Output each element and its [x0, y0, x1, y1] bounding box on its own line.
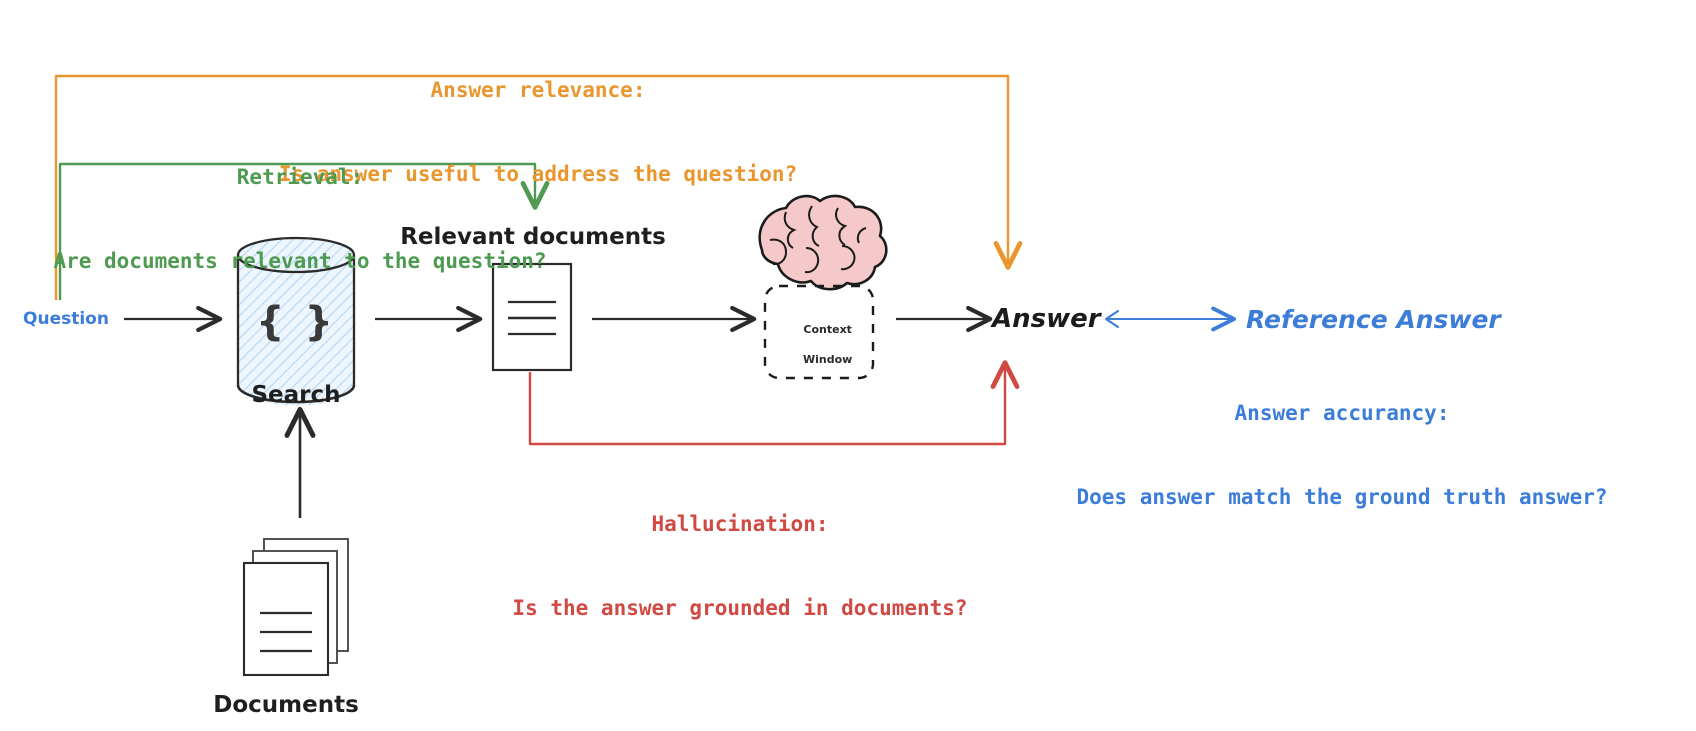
- answer-accuracy-line1: Answer accurancy:: [1012, 400, 1672, 428]
- hallucination-line1: Hallucination:: [440, 511, 1040, 539]
- edge-answer-reference-answer: [1106, 311, 1232, 327]
- node-label-search: Search: [216, 380, 376, 410]
- node-label-relevant-documents: Relevant documents: [398, 222, 668, 252]
- database-glyph: { }: [238, 296, 354, 349]
- edge-hallucination-loop: [530, 365, 1005, 444]
- annotation-hallucination: Hallucination: Is the answer grounded in…: [440, 456, 1040, 678]
- annotation-answer-accuracy: Answer accurancy: Does answer match the …: [1012, 345, 1672, 567]
- answer-relevance-line1: Answer relevance:: [238, 77, 838, 105]
- document-stack-icon: [244, 539, 348, 675]
- node-label-documents: Documents: [206, 690, 366, 720]
- context-window-label: Context Window: [778, 308, 862, 382]
- hallucination-line2: Is the answer grounded in documents?: [440, 595, 1040, 623]
- diagram-canvas: Answer relevance: Is answer useful to ad…: [0, 0, 1696, 731]
- answer-accuracy-line2: Does answer match the ground truth answe…: [1012, 484, 1672, 512]
- node-label-answer: Answer: [992, 302, 1112, 336]
- retrieval-line1: Retrieval:: [30, 164, 570, 192]
- node-label-reference-answer: Reference Answer: [1246, 303, 1526, 336]
- context-window-line2: Window: [803, 353, 852, 366]
- context-window-line1: Context: [803, 323, 852, 336]
- node-label-question: Question: [18, 308, 114, 330]
